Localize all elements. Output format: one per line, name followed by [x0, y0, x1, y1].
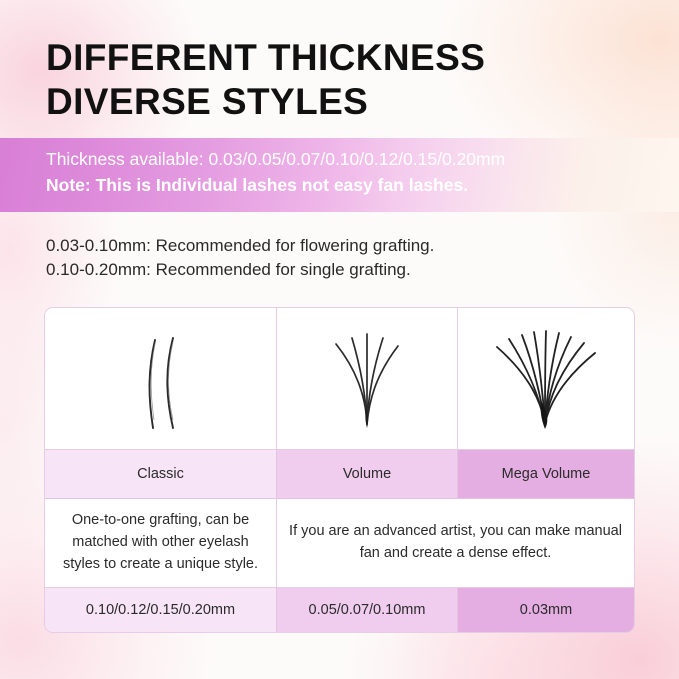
thickness-banner: Thickness available: 0.03/0.05/0.07/0.10…	[0, 138, 679, 212]
mega-volume-lash-fan-illustration-icon	[481, 323, 611, 435]
table-row-descriptions: One-to-one grafting, can be matched with…	[45, 498, 634, 587]
infographic-page: DIFFERENT THICKNESS DIVERSE STYLES Thick…	[0, 0, 679, 679]
recommendation-item-0: 0.03-0.10mm: Recommended for flowering g…	[46, 234, 434, 258]
description-volume-merged: If you are an advanced artist, you can m…	[277, 498, 634, 587]
page-title: DIFFERENT THICKNESS DIVERSE STYLES	[46, 36, 646, 123]
style-name-volume: Volume	[277, 449, 458, 498]
mega-volume-illustration-cell	[458, 308, 634, 449]
classic-lash-illustration-icon	[121, 324, 201, 434]
table-row-style-names: Classic Volume Mega Volume	[45, 449, 634, 498]
description-classic: One-to-one grafting, can be matched with…	[45, 498, 277, 587]
recommendation-item-1: 0.10-0.20mm: Recommended for single graf…	[46, 258, 434, 282]
thickness-banner-text: Thickness available: 0.03/0.05/0.07/0.10…	[46, 147, 669, 199]
classic-illustration-cell	[45, 308, 277, 449]
style-name-classic: Classic	[45, 449, 277, 498]
page-title-line-1: DIFFERENT THICKNESS	[46, 36, 646, 80]
recommendation-list: 0.03-0.10mm: Recommended for flowering g…	[46, 234, 434, 282]
page-title-line-2: DIVERSE STYLES	[46, 80, 646, 124]
thickness-volume: 0.05/0.07/0.10mm	[277, 587, 458, 632]
table-row-thickness: 0.10/0.12/0.15/0.20mm 0.05/0.07/0.10mm 0…	[45, 587, 634, 632]
thickness-available-text: Thickness available: 0.03/0.05/0.07/0.10…	[46, 147, 669, 172]
style-name-mega-volume: Mega Volume	[458, 449, 634, 498]
thickness-mega-volume: 0.03mm	[458, 587, 634, 632]
volume-lash-fan-illustration-icon	[312, 324, 422, 434]
banner-note-text: Note: This is Individual lashes not easy…	[46, 173, 669, 198]
volume-illustration-cell	[277, 308, 458, 449]
lash-style-comparison-table: Classic Volume Mega Volume One-to-one gr…	[44, 307, 635, 633]
thickness-classic: 0.10/0.12/0.15/0.20mm	[45, 587, 277, 632]
table-row-illustrations	[45, 308, 634, 449]
